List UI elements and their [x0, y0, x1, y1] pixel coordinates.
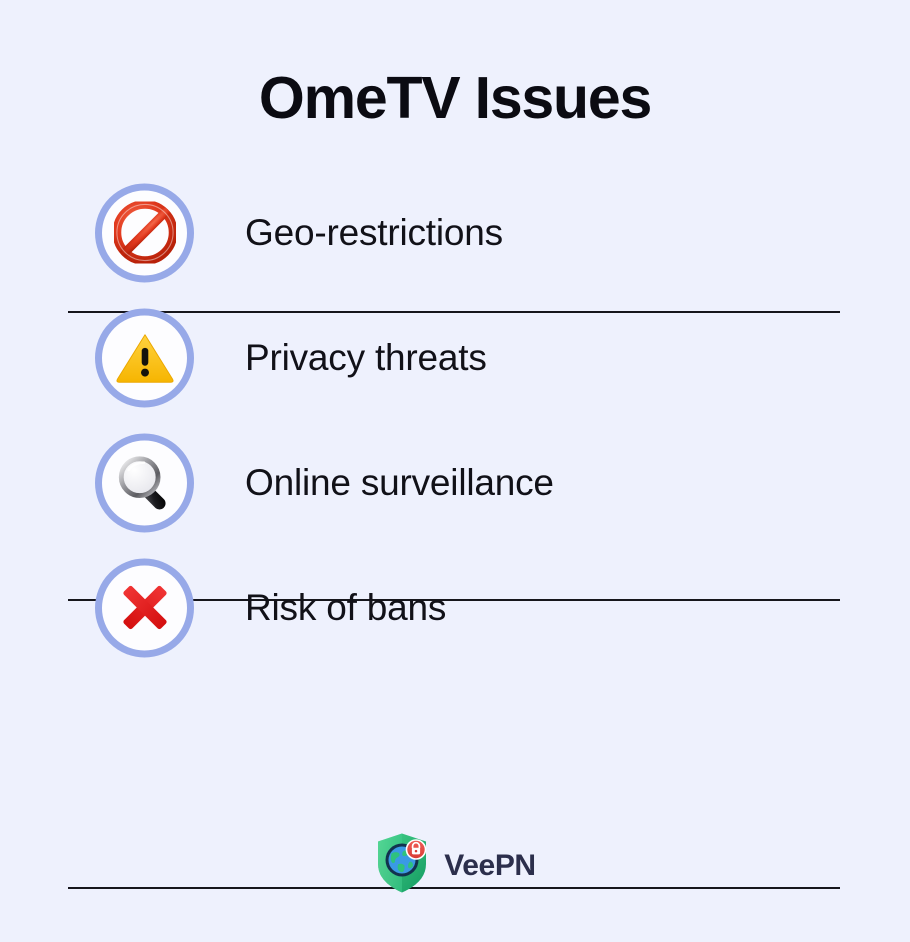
issue-row: Privacy threats: [0, 295, 910, 420]
issue-label: Geo-restrictions: [245, 212, 503, 254]
issue-list: Geo-restrictions: [0, 170, 910, 670]
issue-icon-badge: [95, 558, 194, 657]
magnifying-glass-icon: [114, 452, 176, 514]
warning-triangle-icon: [114, 327, 176, 389]
veepn-shield-globe-lock-logo: [374, 832, 430, 899]
issue-label: Online surveillance: [245, 462, 554, 504]
infographic-canvas: OmeTV Issues: [0, 0, 910, 942]
issue-row: Online surveillance: [0, 420, 910, 545]
red-cross-mark-icon: [114, 577, 176, 639]
issue-icon-badge: [95, 433, 194, 532]
page-title: OmeTV Issues: [0, 66, 910, 131]
issue-label: Privacy threats: [245, 337, 487, 379]
issue-icon-badge: [95, 183, 194, 282]
issue-row: Geo-restrictions: [0, 170, 910, 295]
prohibited-sign-icon: [114, 202, 176, 264]
issue-label: Risk of bans: [245, 587, 446, 629]
issue-icon-badge: [95, 308, 194, 407]
brand-footer: VeePN: [0, 832, 910, 899]
issue-row: Risk of bans: [0, 545, 910, 670]
brand-name: VeePN: [444, 849, 535, 883]
